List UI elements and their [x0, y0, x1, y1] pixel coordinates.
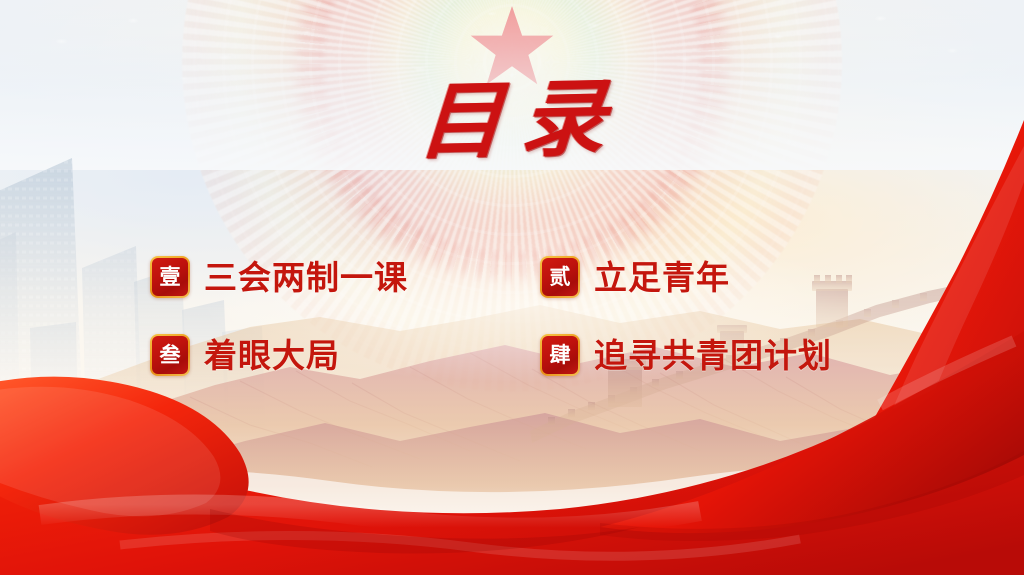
- toc-badge-1: 壹: [150, 256, 190, 298]
- toc-label-1: 三会两制一课: [204, 261, 408, 294]
- table-of-contents: 壹 三会两制一课 贰 立足青年 叁 着眼大局: [150, 238, 910, 394]
- toc-item-1[interactable]: 壹 三会两制一课: [150, 238, 540, 316]
- toc-number-1: 壹: [160, 267, 181, 288]
- toc-item-4[interactable]: 肆 追寻共青团计划: [540, 316, 910, 394]
- toc-number-4: 肆: [550, 345, 571, 366]
- toc-badge-3: 叁: [150, 334, 190, 376]
- toc-label-2: 立足青年: [594, 261, 730, 294]
- toc-label-4: 追寻共青团计划: [594, 339, 832, 372]
- toc-badge-inner-4: 肆: [542, 336, 578, 374]
- toc-label-3: 着眼大局: [204, 339, 340, 372]
- toc-badge-inner-1: 壹: [152, 258, 188, 296]
- presentation-slide: 目录 壹 三会两制一课 贰 立足青年 叁: [0, 0, 1024, 575]
- toc-item-3[interactable]: 叁 着眼大局: [150, 316, 540, 394]
- toc-item-2[interactable]: 贰 立足青年: [540, 238, 910, 316]
- toc-badge-2: 贰: [540, 256, 580, 298]
- toc-badge-4: 肆: [540, 334, 580, 376]
- toc-number-3: 叁: [160, 345, 181, 366]
- page-title-wrapper: 目录: [0, 78, 1024, 162]
- toc-badge-inner-3: 叁: [152, 336, 188, 374]
- page-title: 目录: [398, 76, 626, 165]
- toc-badge-inner-2: 贰: [542, 258, 578, 296]
- toc-number-2: 贰: [550, 267, 571, 288]
